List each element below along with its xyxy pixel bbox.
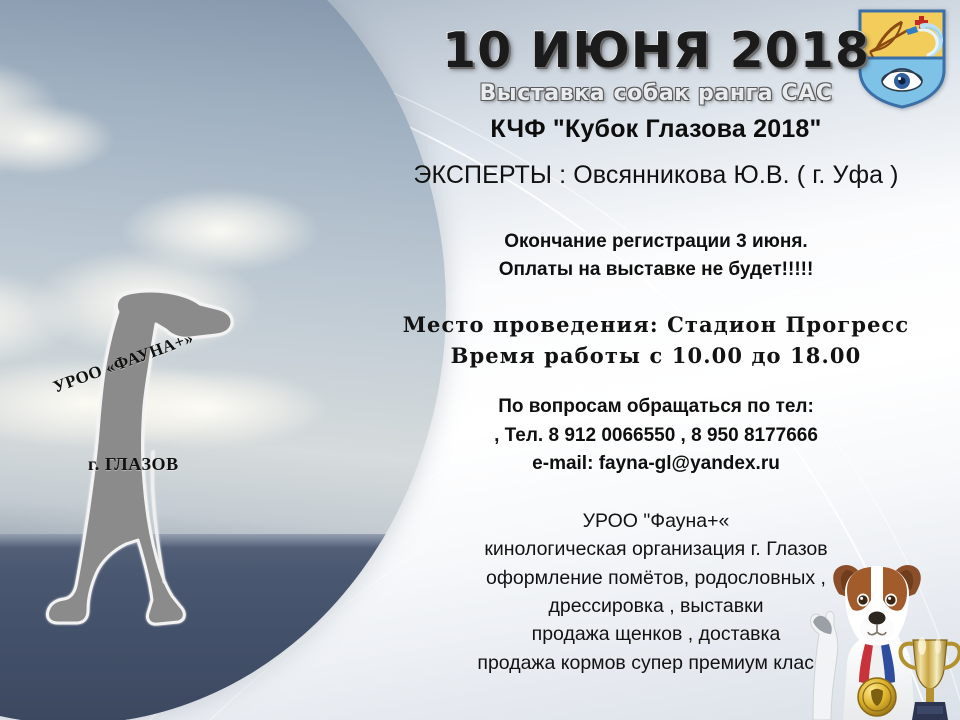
venue-hours: Время работы с 10.00 до 18.00 <box>352 341 960 371</box>
registration-deadline: Окончание регистрации 3 июня. <box>352 228 960 256</box>
cup-title: КЧФ "Кубок Глазова 2018" <box>352 115 960 144</box>
logo-city-text: г. ГЛАЗОВ <box>88 454 179 475</box>
contact-heading: По вопросам обращаться по тел: <box>352 393 960 422</box>
venue-block: Место проведения: Стадион Прогресс Время… <box>352 310 960 371</box>
fauna-dog-logo: УРОО «ФАУНА+» г. ГЛАЗОВ <box>40 282 240 630</box>
experts-line: ЭКСПЕРТЫ : Овсянникова Ю.В. ( г. Уфа ) <box>352 161 960 190</box>
registration-block: Окончание регистрации 3 июня. Оплаты на … <box>352 228 960 284</box>
venue-location: Место проведения: Стадион Прогресс <box>352 310 960 340</box>
registration-payment-note: Оплаты на выставке не будет!!!!! <box>352 256 960 284</box>
poster-canvas: УРОО «ФАУНА+» г. ГЛАЗОВ <box>0 0 960 720</box>
jack-russell-with-trophy-photo <box>795 548 960 720</box>
contact-phones[interactable]: , Тел. 8 912 0066550 , 8 950 8177666 <box>352 422 960 451</box>
contact-email[interactable]: e-mail: fayna-gl@yandex.ru <box>352 450 960 479</box>
cloud-shape <box>120 188 320 273</box>
event-subtitle: Выставка собак ранга САС <box>352 81 960 106</box>
event-date-headline: 10 ИЮНЯ 2018 <box>352 22 960 79</box>
contact-block: По вопросам обращаться по тел: , Тел. 8 … <box>352 393 960 479</box>
org-name: УРОО "Фауна+« <box>352 507 960 535</box>
